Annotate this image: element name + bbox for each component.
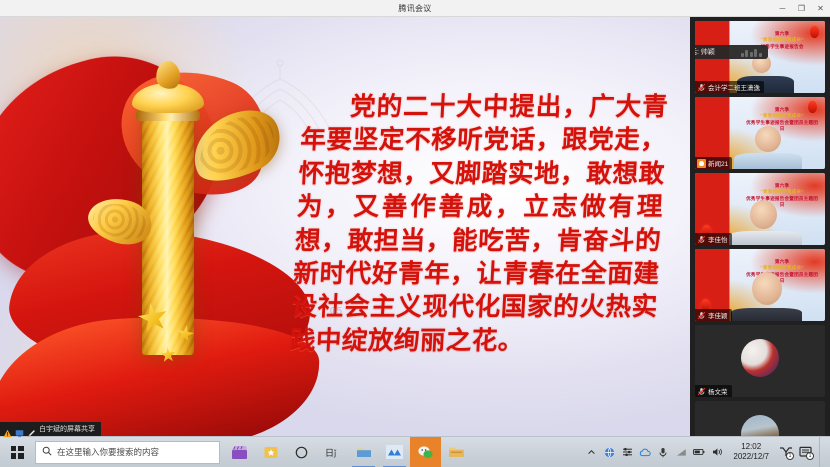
- presentation-slide: 党的二十大中提出，广大青年要坚定不移听党话，跟党走，怀抱梦想，又脚踏实地，敢想敢…: [0, 17, 690, 436]
- svg-text:ǰ: ǰ: [333, 449, 337, 458]
- avatar: [741, 415, 779, 436]
- lantern-icon: [808, 101, 817, 113]
- taskbar-item-cortana[interactable]: 日ǰ: [317, 437, 348, 467]
- tray-battery-icon[interactable]: [693, 446, 705, 458]
- file-explorer-icon: [448, 445, 465, 459]
- mic-muted-icon: [697, 235, 706, 244]
- active-speaker-label: 正在讲话: 帅颖: [695, 47, 715, 57]
- action-center-badge: 1: [806, 452, 814, 460]
- tile-name-badge: 李佳颖: [695, 309, 732, 321]
- participant-tile[interactable]: 第六季 “青春榜样伴我成长” 优秀学生事迹报告会 会计学二班王潇逸 正在讲话: …: [695, 21, 825, 93]
- page-title: 腾讯会议: [398, 3, 431, 14]
- mic-muted-icon: [697, 387, 706, 396]
- tray-wifi-icon[interactable]: [675, 446, 687, 458]
- tray-volume-icon[interactable]: [711, 446, 723, 458]
- windows-logo-icon: [11, 446, 24, 459]
- participant-name: 李佳颖: [708, 310, 728, 320]
- mic-muted-icon: [697, 83, 706, 92]
- share-monitor-icon: [15, 425, 24, 434]
- participant-tile[interactable]: 闫雨萱: [695, 401, 825, 436]
- share-owner-label: 白宇斌的屏幕共享: [39, 424, 95, 434]
- close-button[interactable]: ✕: [811, 0, 830, 17]
- restore-button[interactable]: ❐: [792, 0, 811, 17]
- search-placeholder: 在这里输入你要搜索的内容: [57, 446, 159, 458]
- input-indicator-icon[interactable]: 1: [779, 445, 793, 459]
- participant-tile[interactable]: 杨文荣: [695, 325, 825, 397]
- participant-name: 新闻21: [708, 158, 728, 168]
- clock-date: 2022/12/7: [733, 452, 769, 462]
- taskbar-item-photos[interactable]: [255, 437, 286, 467]
- tray-microphone-icon[interactable]: [657, 446, 669, 458]
- action-center-icon[interactable]: 1: [799, 445, 813, 459]
- avatar: [741, 339, 779, 377]
- ime-language-icon: 日ǰ: [325, 446, 341, 459]
- windows-taskbar[interactable]: 在这里输入你要搜索的内容 日ǰ: [0, 436, 830, 467]
- tray-sliders-icon[interactable]: [621, 446, 633, 458]
- search-input[interactable]: 在这里输入你要搜索的内容: [35, 441, 220, 464]
- participant-tile[interactable]: 第六季 “青春榜样伴我成长” 优秀学生事迹报告会暨团员主题团日 李佳怡: [695, 173, 825, 245]
- photo-star-icon: [263, 445, 279, 460]
- system-tray[interactable]: 12:02 2022/12/7 1 1: [585, 437, 830, 467]
- person-torso: [729, 231, 802, 245]
- meeting-window-body: 党的二十大中提出，广大青年要坚定不移听党话，跟党走，怀抱梦想，又脚踏实地，敢想敢…: [0, 17, 830, 436]
- taskbar-item-file-explorer[interactable]: [441, 437, 472, 467]
- participant-rail[interactable]: 第六季 “青春榜样伴我成长” 优秀学生事迹报告会 会计学二班王潇逸 正在讲话: …: [690, 17, 830, 436]
- participant-name: 李佳怡: [708, 234, 728, 244]
- person-head: [750, 200, 777, 229]
- window-title-bar[interactable]: 腾讯会议 ─ ❐ ✕: [0, 0, 830, 17]
- participant-tile[interactable]: 第六季 “青春榜样伴我成长” 优秀学生事迹报告会暨团员主题团日 新闻21: [695, 97, 825, 169]
- participant-name: 杨文荣: [708, 386, 728, 396]
- window-controls: ─ ❐ ✕: [773, 0, 830, 17]
- avatar-icon: [697, 159, 706, 168]
- tray-network-icon[interactable]: [603, 446, 615, 458]
- tencent-meeting-icon: [386, 445, 403, 459]
- taskbar-item-downloads[interactable]: [348, 437, 379, 467]
- clapperboard-icon: [231, 445, 248, 460]
- tray-cloud-icon[interactable]: [639, 446, 651, 458]
- search-icon: [42, 443, 52, 461]
- taskbar-pinned-items[interactable]: 日ǰ: [224, 437, 472, 467]
- participant-name: 会计学二班王潇逸: [708, 82, 760, 92]
- clock-time: 12:02: [741, 442, 761, 452]
- tray-expand-icon[interactable]: [585, 446, 597, 458]
- participant-tile[interactable]: 第六季 “青春榜样伴我成长” 优秀学生事迹报告会暨团员主题团日 李佳颖: [695, 249, 825, 321]
- svg-text:日: 日: [325, 448, 334, 459]
- screen-share-indicator[interactable]: 白宇斌的屏幕共享: [0, 422, 101, 436]
- taskbar-item-tencent-meeting[interactable]: [379, 437, 410, 467]
- start-button[interactable]: [0, 437, 34, 467]
- folder-blue-icon: [356, 445, 372, 459]
- taskbar-item-task-view[interactable]: [286, 437, 317, 467]
- show-desktop-button[interactable]: [819, 437, 824, 467]
- wechat-icon: [417, 445, 434, 460]
- slide-page-number: 05: [330, 306, 343, 317]
- taskbar-item-wechat[interactable]: [410, 437, 441, 467]
- taskbar-item-movie-maker[interactable]: [224, 437, 255, 467]
- taskbar-clock[interactable]: 12:02 2022/12/7: [729, 442, 773, 462]
- mic-muted-icon: [697, 311, 706, 320]
- person-torso: [731, 308, 801, 321]
- person-torso: [734, 153, 802, 169]
- tile-name-badge: 杨文荣: [695, 385, 732, 397]
- tile-name-badge: 新闻21: [695, 157, 732, 169]
- audio-wave-icon: [741, 48, 762, 57]
- poster-line-3: 优秀学生事迹报告会暨团员主题团日: [744, 120, 819, 133]
- tile-name-badge: 李佳怡: [695, 233, 732, 245]
- tile-name-badge: 会计学二班王潇逸: [695, 81, 764, 93]
- input-indicator-badge: 1: [786, 452, 794, 460]
- active-speaker-banner: 正在讲话: 帅颖: [695, 45, 768, 59]
- shared-screen-stage[interactable]: 党的二十大中提出，广大青年要坚定不移听党话，跟党走，怀抱梦想，又脚踏实地，敢想敢…: [0, 17, 690, 436]
- minimize-button[interactable]: ─: [773, 0, 792, 17]
- task-view-icon: [294, 446, 309, 459]
- share-pen-icon: [27, 425, 36, 434]
- lantern-icon: [810, 26, 819, 38]
- slide-body-text: 党的二十大中提出，广大青年要坚定不移听党话，跟党走，怀抱梦想，又脚踏实地，敢想敢…: [289, 91, 669, 358]
- person-head: [755, 126, 781, 152]
- share-warning-icon: [3, 425, 12, 434]
